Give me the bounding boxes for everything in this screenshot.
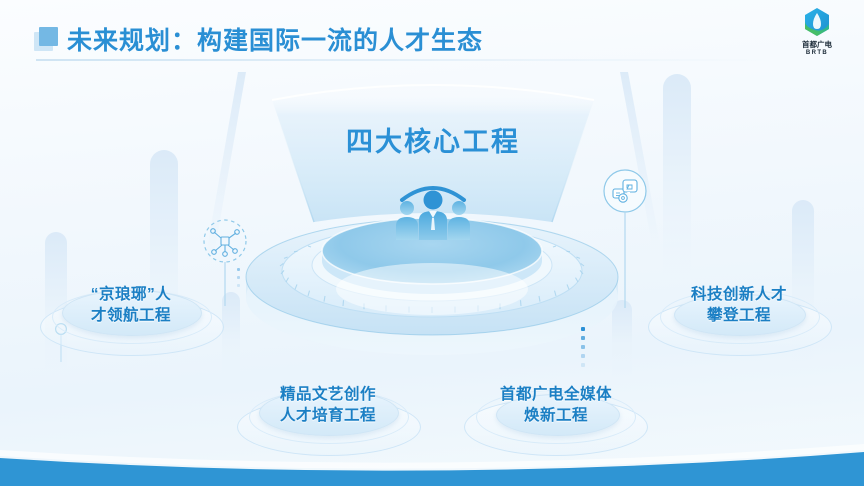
project-label-text: 首都广电全媒体 焕新工程 (458, 384, 654, 426)
slide-header: 未来规划：构建国际一流的人才生态 (0, 0, 864, 68)
brand-logo: 首都广电 BRTB (786, 7, 848, 57)
slide-canvas: 四大核心工程 (0, 0, 864, 486)
logo-name-en: BRTB (786, 49, 848, 57)
label-line-1: 首都广电全媒体 (458, 384, 654, 405)
label-line-2: 攀登工程 (644, 305, 834, 326)
project-label-text: 精品文艺创作 人才培育工程 (233, 384, 423, 426)
logo-name-cn: 首都广电 (786, 40, 848, 49)
project-label-text: 科技创新人才 攀登工程 (644, 284, 834, 326)
project-label-jinglangya[interactable]: “京琅琊”人 才领航工程 (36, 272, 226, 358)
hexagon-leaf-logo-icon (802, 7, 832, 39)
label-line-2: 人才培育工程 (233, 405, 423, 426)
header-bullet-front-square (39, 27, 58, 46)
project-label-text: “京琅琊”人 才领航工程 (36, 284, 226, 326)
label-line-2: 才领航工程 (36, 305, 226, 326)
label-line-1: 科技创新人才 (644, 284, 834, 305)
center-title: 四大核心工程 (262, 120, 604, 159)
feedback-gear-pin[interactable] (602, 168, 648, 313)
label-line-1: 精品文艺创作 (233, 384, 423, 405)
three-people-group-icon (392, 178, 474, 250)
header-divider (36, 59, 776, 61)
label-line-1: “京琅琊”人 (36, 284, 226, 305)
project-label-tech-innovation[interactable]: 科技创新人才 攀登工程 (644, 272, 834, 358)
page-title: 未来规划：构建国际一流的人才生态 (67, 21, 483, 57)
bottom-wave-decor (0, 430, 864, 486)
chat-thumbsup-gear-icon (602, 168, 648, 308)
label-line-2: 焕新工程 (458, 405, 654, 426)
dot-column-decor (581, 327, 585, 372)
